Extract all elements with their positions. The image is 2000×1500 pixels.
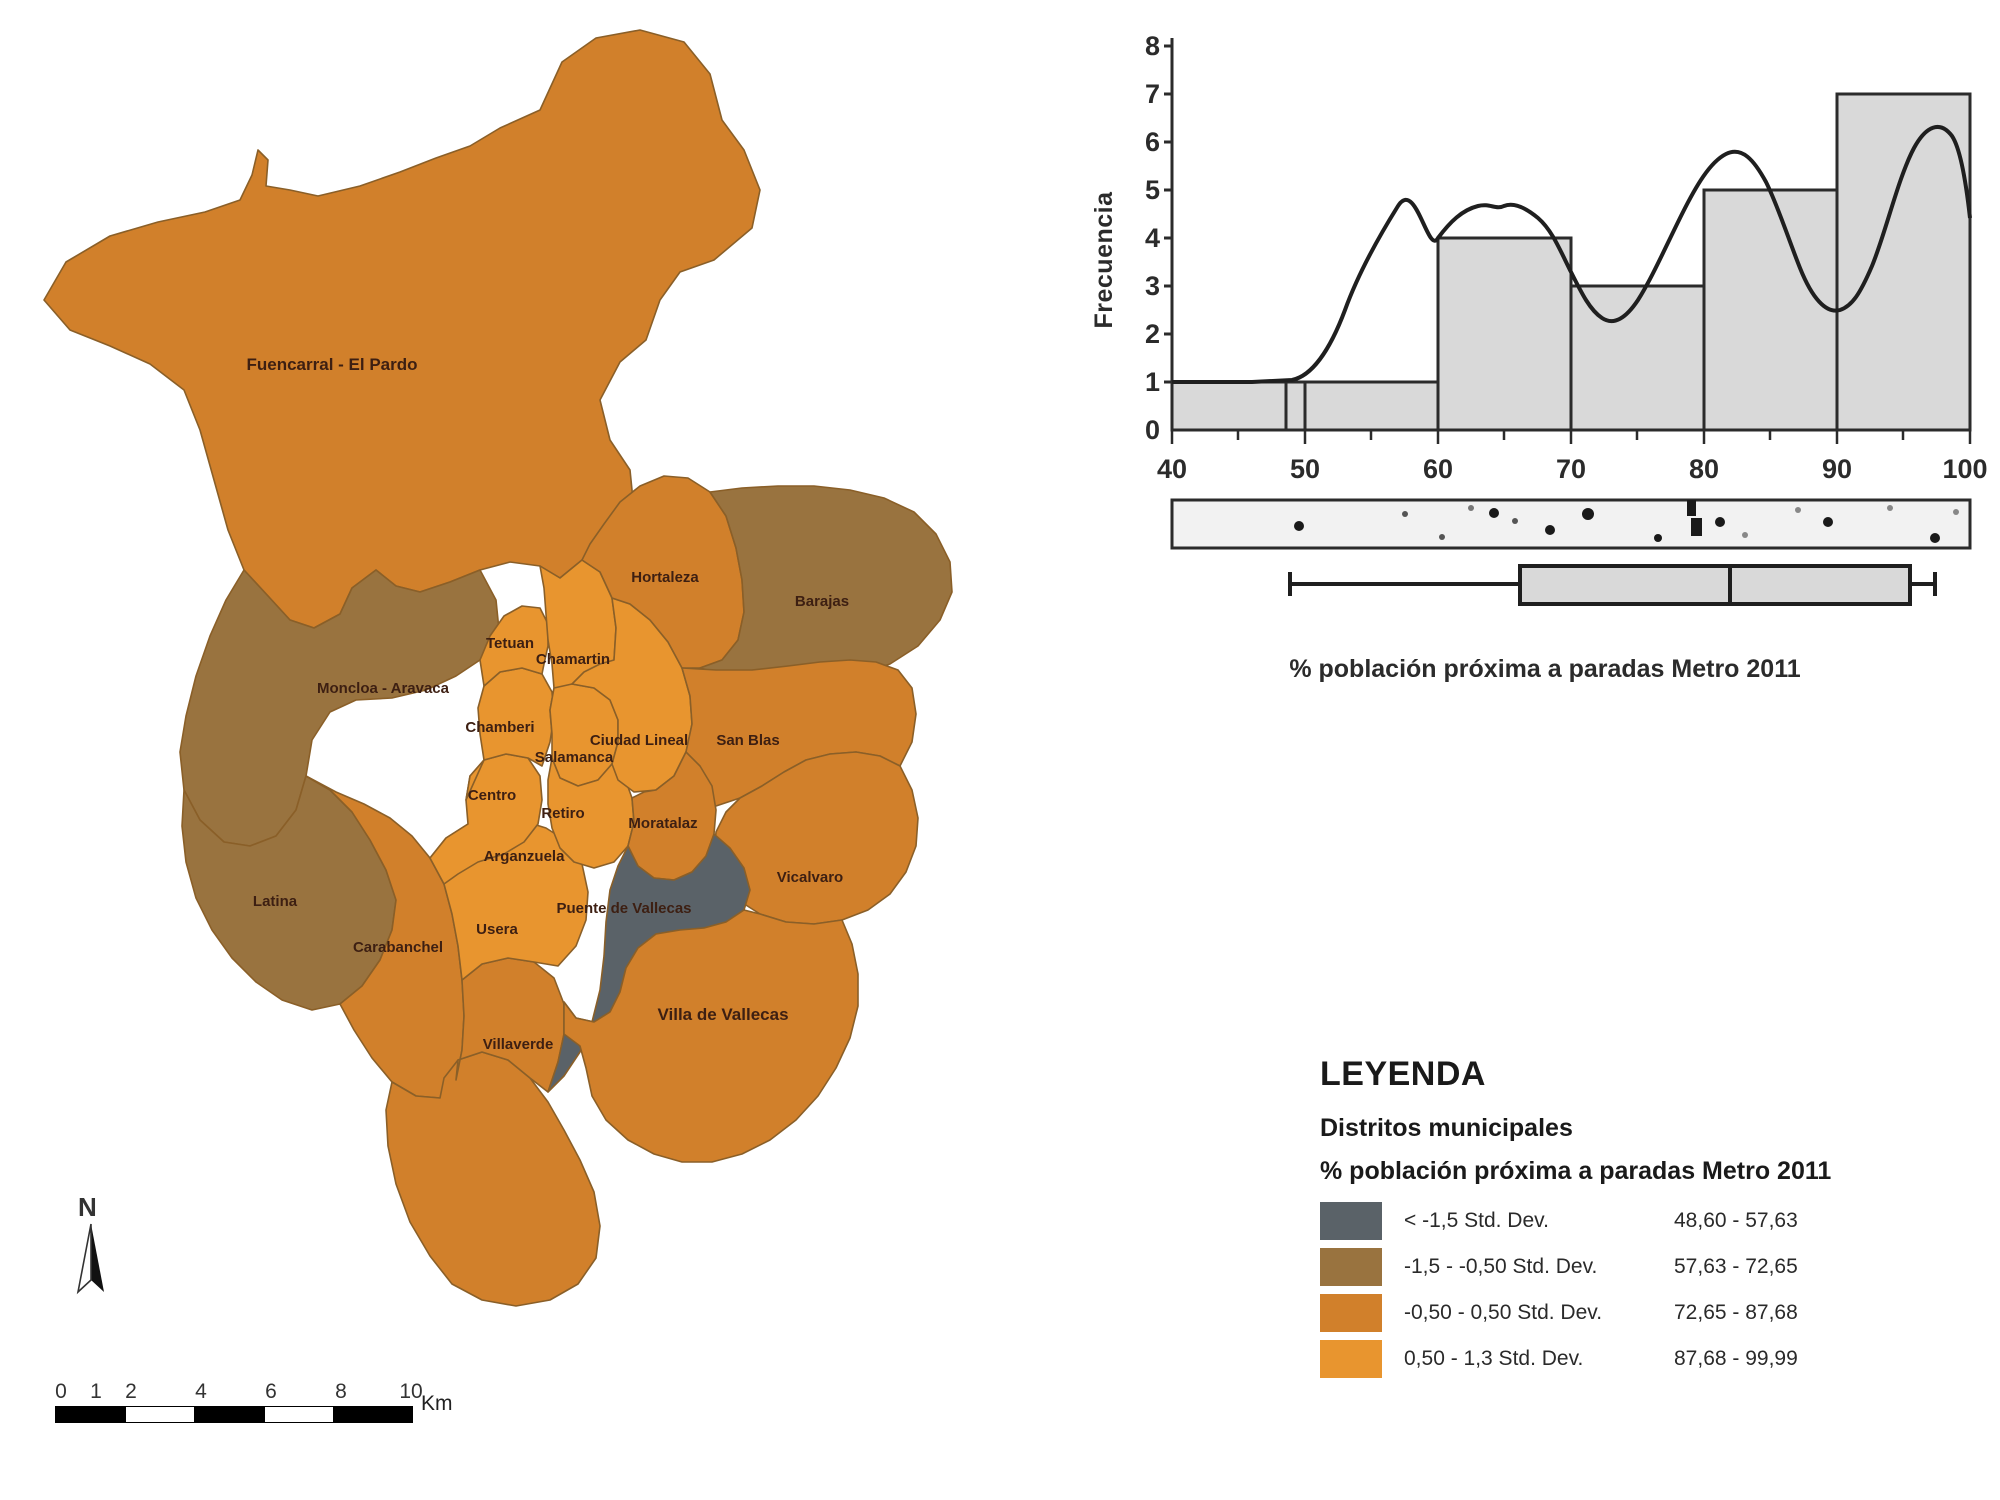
y-tick-3: 3: [1145, 271, 1160, 301]
legend-class-label-4: 0,50 - 1,3 Std. Dev.: [1404, 1347, 1674, 1371]
scale-segment-2-4: [126, 1407, 196, 1422]
scale-tick-8: 8: [335, 1380, 347, 1404]
x-tick-70: 70: [1556, 454, 1586, 484]
legend-swatch-class3: [1320, 1294, 1382, 1332]
legend-range-2: 57,63 - 72,65: [1674, 1255, 1798, 1279]
scale-segment-0-1: [56, 1407, 91, 1422]
legend-class-label-3: -0,50 - 0,50 Std. Dev.: [1404, 1301, 1674, 1325]
legend-row-class3[interactable]: -0,50 - 0,50 Std. Dev. 72,65 - 87,68: [1320, 1290, 1980, 1336]
scale-segment-6-8: [265, 1407, 335, 1422]
x-tick-40: 40: [1157, 454, 1187, 484]
x-tick-100: 100: [1942, 454, 1987, 484]
y-tick-5: 5: [1145, 175, 1160, 205]
dot-point: [1294, 521, 1304, 531]
histogram-chart[interactable]: Frecuencia 8 7 6 5 4 3 2 1 0: [1090, 10, 2000, 650]
y-axis-ticks: 8 7 6 5 4 3 2 1 0: [1145, 31, 1160, 445]
legend-subtitle-districts: Distritos municipales: [1320, 1114, 1980, 1143]
dot-point: [1742, 532, 1748, 538]
madrid-districts-map[interactable]: Fuencarral - El Pardo Hortaleza Barajas …: [0, 0, 1160, 1500]
legend-range-1: 48,60 - 57,63: [1674, 1209, 1798, 1233]
box-plot[interactable]: [1290, 566, 1935, 604]
dot-point: [1402, 511, 1408, 517]
scale-tick-10: 10: [399, 1380, 422, 1404]
legend-swatch-class4: [1320, 1340, 1382, 1378]
scale-tick-0: 0: [55, 1380, 67, 1404]
dot-point: [1887, 505, 1893, 511]
bar-48-50[interactable]: [1286, 382, 1305, 430]
bar-90-100[interactable]: [1837, 94, 1970, 430]
dot-point: [1654, 534, 1662, 542]
legend-range-4: 87,68 - 99,99: [1674, 1347, 1798, 1371]
y-tick-2: 2: [1145, 319, 1160, 349]
north-letter: N: [78, 1192, 97, 1223]
legend-class-label-2: -1,5 - -0,50 Std. Dev.: [1404, 1255, 1674, 1279]
scale-tick-6: 6: [265, 1380, 277, 1404]
y-tick-0: 0: [1145, 415, 1160, 445]
bar-40-48[interactable]: [1172, 382, 1286, 430]
box-iqr[interactable]: [1520, 566, 1910, 604]
legend-row-class4[interactable]: 0,50 - 1,3 Std. Dev. 87,68 - 99,99: [1320, 1336, 1980, 1382]
y-tick-6: 6: [1145, 127, 1160, 157]
dot-plot[interactable]: [1172, 500, 1970, 548]
x-tick-marks: [1172, 430, 1970, 444]
map-figure-root: Fuencarral - El Pardo Hortaleza Barajas …: [0, 0, 2000, 1500]
x-tick-90: 90: [1822, 454, 1852, 484]
x-tick-50: 50: [1290, 454, 1320, 484]
dot-point: [1582, 508, 1594, 520]
scale-track: [55, 1406, 413, 1423]
dot-point: [1489, 508, 1499, 518]
dot-point: [1512, 518, 1518, 524]
y-axis-label: Frecuencia: [1090, 191, 1118, 329]
dot-point: [1795, 507, 1801, 513]
y-tick-8: 8: [1145, 31, 1160, 61]
dot-point: [1439, 534, 1445, 540]
dot-point: [1468, 505, 1474, 511]
dot-point: [1930, 533, 1940, 543]
scale-segment-4-6: [195, 1407, 265, 1422]
legend-subtitle-variable: % población próxima a paradas Metro 2011: [1320, 1157, 1980, 1186]
y-tick-4: 4: [1145, 223, 1160, 253]
scale-bar: 0 1 2 4 6 8 10 Km: [55, 1380, 455, 1423]
x-tick-60: 60: [1423, 454, 1453, 484]
district-shapes-group: [44, 30, 952, 1306]
bar-80-90[interactable]: [1704, 190, 1837, 430]
legend-panel: LEYENDA Distritos municipales % població…: [1320, 1055, 1980, 1382]
y-tick-7: 7: [1145, 79, 1160, 109]
scale-tick-labels: 0 1 2 4 6 8 10: [55, 1380, 455, 1406]
dot-point: [1687, 500, 1696, 516]
scale-tick-2: 2: [125, 1380, 137, 1404]
legend-title: LEYENDA: [1320, 1055, 1980, 1094]
dot-point: [1715, 517, 1725, 527]
x-tick-80: 80: [1689, 454, 1719, 484]
scale-segment-8-10: [334, 1407, 412, 1422]
x-axis-ticks: 40 50 60 70 80 90 100: [1157, 454, 1988, 484]
legend-swatch-class1: [1320, 1202, 1382, 1240]
scale-segment-1-2: [91, 1407, 126, 1422]
chart-x-axis-title: % población próxima a paradas Metro 2011: [1090, 655, 2000, 684]
north-arrow: N: [58, 1192, 128, 1307]
choropleth-map-panel: Fuencarral - El Pardo Hortaleza Barajas …: [0, 0, 1160, 1500]
legend-row-class1[interactable]: < -1,5 Std. Dev. 48,60 - 57,63: [1320, 1198, 1980, 1244]
dot-point: [1953, 509, 1959, 515]
scale-unit-label: Km: [421, 1392, 453, 1416]
legend-swatch-class2: [1320, 1248, 1382, 1286]
scale-tick-1: 1: [90, 1380, 102, 1404]
dot-point: [1823, 517, 1833, 527]
dot-point: [1691, 518, 1702, 536]
dot-plot-frame[interactable]: [1172, 500, 1970, 548]
dot-point: [1545, 525, 1555, 535]
histogram-panel: Frecuencia 8 7 6 5 4 3 2 1 0: [1090, 10, 2000, 590]
legend-class-label-1: < -1,5 Std. Dev.: [1404, 1209, 1674, 1233]
y-tick-1: 1: [1145, 367, 1160, 397]
bar-60-70[interactable]: [1438, 238, 1571, 430]
legend-row-class2[interactable]: -1,5 - -0,50 Std. Dev. 57,63 - 72,65: [1320, 1244, 1980, 1290]
legend-range-3: 72,65 - 87,68: [1674, 1301, 1798, 1325]
scale-tick-4: 4: [195, 1380, 207, 1404]
bar-50-60[interactable]: [1305, 382, 1438, 430]
